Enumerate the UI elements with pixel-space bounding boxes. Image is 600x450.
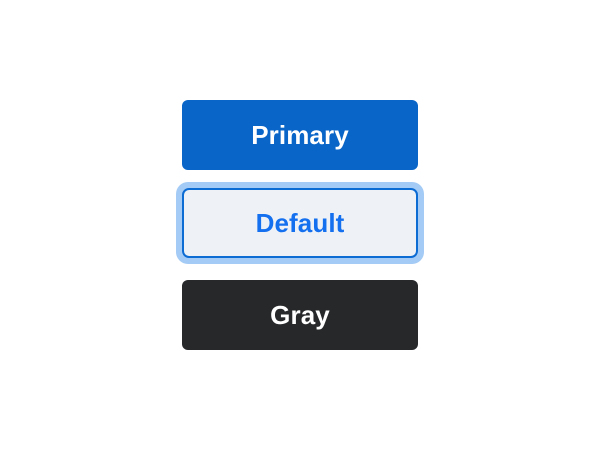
default-button-label: Default [256, 210, 345, 236]
gray-button[interactable]: Gray [182, 280, 418, 350]
default-button[interactable]: Default [182, 188, 418, 258]
spacer [182, 170, 418, 182]
spacer [182, 264, 418, 280]
default-button-focus-ring: Default [176, 182, 424, 264]
primary-button[interactable]: Primary [182, 100, 418, 170]
primary-button-label: Primary [251, 122, 349, 148]
gray-button-label: Gray [270, 302, 330, 328]
button-group: Primary Default Gray [182, 100, 418, 350]
